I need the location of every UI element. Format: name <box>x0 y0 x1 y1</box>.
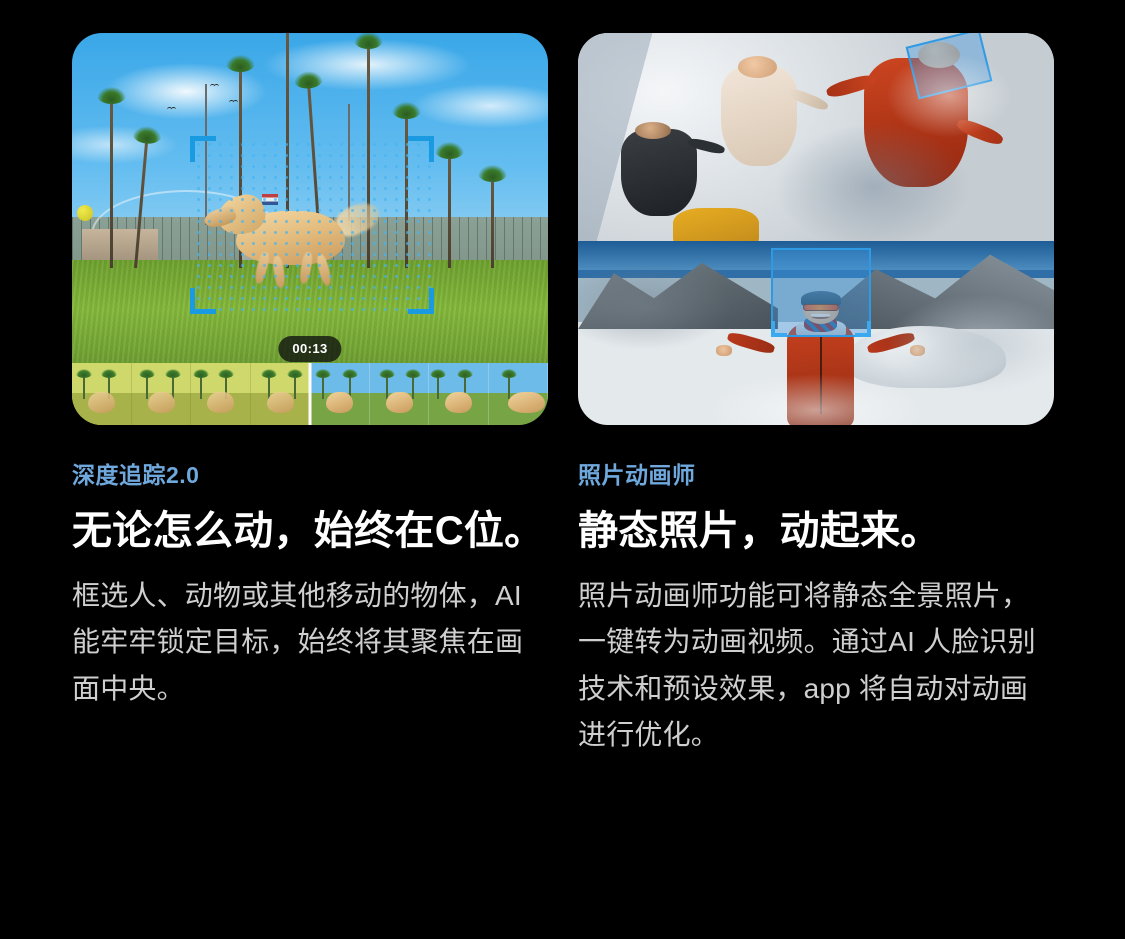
ski-goggles-icon <box>803 304 839 311</box>
person-arm <box>687 136 725 154</box>
face-detection-box-bottom[interactable] <box>771 248 871 336</box>
filmstrip-frame[interactable] <box>191 363 251 425</box>
eyebrow-deep-tracking: 深度追踪2.0 <box>72 461 548 490</box>
beanie-hat <box>801 291 841 307</box>
filmstrip-frame[interactable] <box>370 363 430 425</box>
person-in-red-jacket-top <box>864 58 969 187</box>
mountain-ridge-right <box>826 248 1054 329</box>
person-torso <box>621 129 697 216</box>
filmstrip-selected-range[interactable] <box>72 363 310 425</box>
tracking-grid-overlay <box>193 139 431 311</box>
person-smile <box>811 314 830 319</box>
jacket-zipper <box>820 332 822 414</box>
face-detection-box-top[interactable] <box>906 33 993 100</box>
jacket-collar <box>796 319 846 338</box>
person-in-black-suit <box>621 129 697 216</box>
filmstrip-frame[interactable] <box>310 363 370 425</box>
person-hand-right <box>910 345 926 356</box>
person-arm-right <box>866 331 916 356</box>
reticle-corner-bottom-left <box>190 288 216 314</box>
snow-group-photo <box>578 33 1054 241</box>
person-jacket <box>787 324 854 425</box>
face-box-corner-bottom-left <box>771 321 787 337</box>
person-head <box>738 56 778 78</box>
palm-tree-icon <box>448 151 451 269</box>
filmstrip-frame[interactable] <box>429 363 489 425</box>
headline-photo-animator: 静态照片，动起来。 <box>578 506 1054 557</box>
subject-tracking-reticle[interactable] <box>193 139 431 311</box>
reticle-corner-top-right <box>408 136 434 162</box>
reticle-corner-bottom-right <box>408 288 434 314</box>
body-copy-photo-animator: 照片动画师功能可将静态全景照片，一键转为动画视频。通过AI 人脸识别技术和预设效… <box>578 573 1054 759</box>
deep-tracking-video-preview[interactable]: 00:13 <box>72 33 548 425</box>
person-in-cream-suit <box>721 66 797 166</box>
person-torso <box>673 208 759 241</box>
person-torso <box>721 66 797 166</box>
snow-panorama-photo <box>578 241 1054 425</box>
headline-deep-tracking: 无论怎么动，始终在C位。 <box>72 506 548 557</box>
neck-scarf <box>804 316 838 332</box>
body-copy-deep-tracking: 框选人、动物或其他移动的物体，AI能牢牢锁定目标，始终将其聚焦在画面中央。 <box>72 573 548 712</box>
filmstrip-remaining-range[interactable] <box>310 363 548 425</box>
feature-column-deep-tracking: 00:13 <box>72 33 548 759</box>
person-head <box>918 42 960 68</box>
person-arm <box>825 72 877 99</box>
person-in-yellow-suit <box>673 208 759 241</box>
palm-tree-icon <box>491 174 494 268</box>
bird-icon <box>229 100 238 104</box>
video-timestamp-badge: 00:13 <box>278 336 341 362</box>
face-box-corner-bottom-right <box>855 321 871 337</box>
dog-running-scene: 00:13 <box>72 33 548 425</box>
person-arm <box>955 116 1005 147</box>
sky-strip <box>578 241 1054 270</box>
feature-column-photo-animator: 照片动画师 静态照片，动起来。 照片动画师功能可将静态全景照片，一键转为动画视频… <box>578 33 1054 759</box>
bird-icon <box>167 107 176 111</box>
filmstrip-frame[interactable] <box>251 363 311 425</box>
person-arm-left <box>726 331 776 356</box>
feature-columns: 00:13 <box>0 0 1125 759</box>
person-in-red-jacket-bottom <box>768 292 873 425</box>
mountain-ridge-left <box>578 255 778 329</box>
video-filmstrip[interactable] <box>72 363 548 425</box>
palm-tree-icon <box>110 96 113 268</box>
person-torso <box>864 58 969 187</box>
reticle-corner-top-left <box>190 136 216 162</box>
filmstrip-frame[interactable] <box>489 363 549 425</box>
snow-mound <box>845 326 1007 389</box>
person-hand-left <box>716 345 732 356</box>
filmstrip-playhead[interactable] <box>309 363 312 425</box>
filmstrip-frame[interactable] <box>132 363 192 425</box>
feature-page: 00:13 <box>0 0 1125 939</box>
person-head <box>803 295 839 324</box>
bird-icon <box>210 84 219 88</box>
person-head <box>635 122 672 139</box>
filmstrip-frame[interactable] <box>72 363 132 425</box>
photo-animator-preview[interactable] <box>578 33 1054 425</box>
eyebrow-photo-animator: 照片动画师 <box>578 461 1054 490</box>
person-arm <box>787 87 829 113</box>
